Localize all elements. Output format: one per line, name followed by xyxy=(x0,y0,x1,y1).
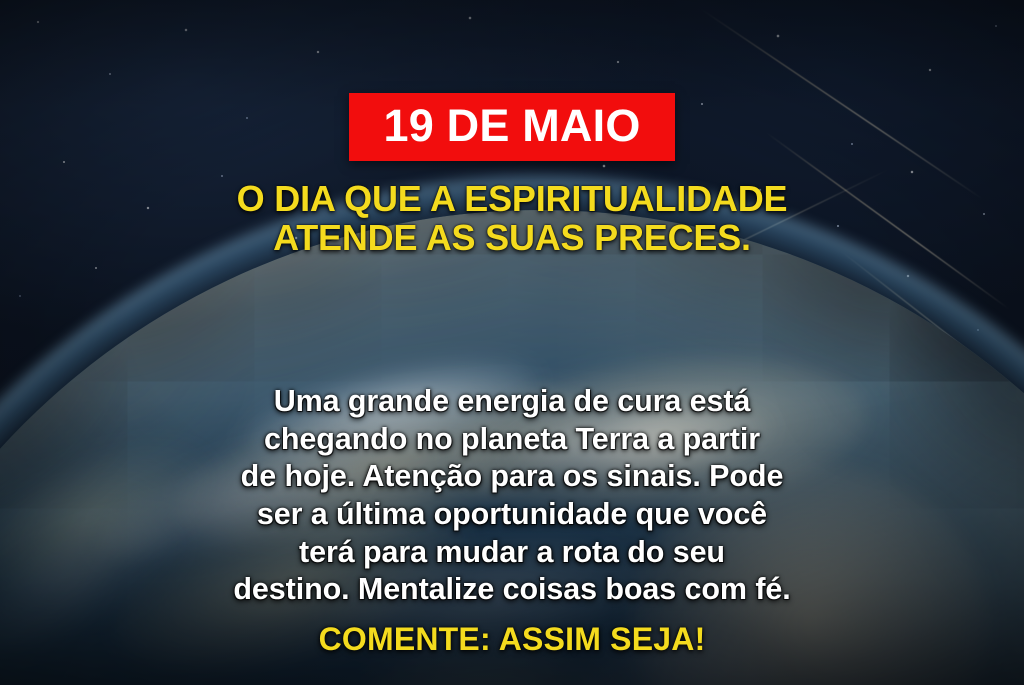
headline-line-2: ATENDE AS SUAS PRECES. xyxy=(237,219,788,258)
body-line-6: destino. Mentalize coisas boas com fé. xyxy=(72,571,952,609)
headline: O DIA QUE A ESPIRITUALIDADE ATENDE AS SU… xyxy=(237,180,788,257)
poster-content: 19 DE MAIO O DIA QUE A ESPIRITUALIDADE A… xyxy=(0,0,1024,685)
date-banner: 19 DE MAIO xyxy=(349,93,674,161)
headline-line-1: O DIA QUE A ESPIRITUALIDADE xyxy=(237,180,788,219)
body-paragraph: Uma grande energia de cura está chegando… xyxy=(72,383,952,609)
poster-canvas: 19 DE MAIO O DIA QUE A ESPIRITUALIDADE A… xyxy=(0,0,1024,685)
body-line-1: Uma grande energia de cura está xyxy=(72,383,952,421)
body-line-5: terá para mudar a rota do seu xyxy=(72,534,952,572)
body-line-3: de hoje. Atenção para os sinais. Pode xyxy=(72,458,952,496)
body-line-4: ser a última oportunidade que você xyxy=(72,496,952,534)
call-to-action-text: COMENTE: ASSIM SEJA! xyxy=(319,623,706,655)
body-line-2: chegando no planeta Terra a partir xyxy=(72,421,952,459)
